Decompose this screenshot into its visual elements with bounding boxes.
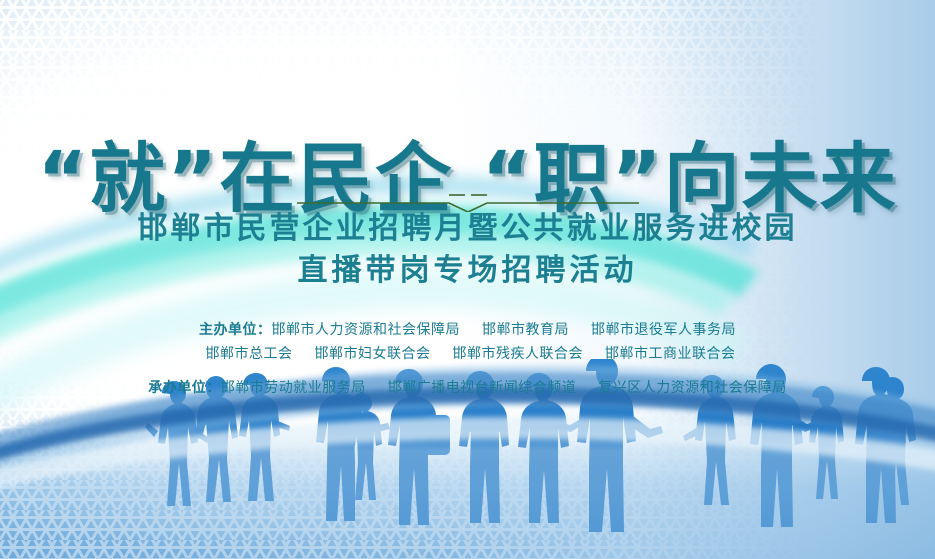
subtitle-line-2: 直播带岗专场招聘活动 bbox=[0, 250, 935, 292]
undertaker-label: 承办单位： bbox=[148, 380, 221, 396]
host-org-4: 邯郸市总工会 bbox=[206, 346, 293, 362]
undertaker-row-1: 承办单位：邯郸市劳动就业服务局邯郸广播电视台新闻综合频道复兴区人力资源和社会保障… bbox=[0, 376, 935, 400]
poster-content: “就”在民企 “职”向未来 邯郸市民营企业招聘月暨公共就业服务进校园 直播带岗专… bbox=[0, 0, 935, 559]
subtitle-line-1: 邯郸市民营企业招聘月暨公共就业服务进校园 bbox=[0, 208, 935, 250]
host-org-2: 邯郸市教育局 bbox=[482, 322, 569, 338]
undertaker-org-1: 邯郸市劳动就业服务局 bbox=[221, 380, 366, 396]
host-org-1: 邯郸市人力资源和社会保障局 bbox=[272, 322, 461, 338]
subtitle: 邯郸市民营企业招聘月暨公共就业服务进校园 直播带岗专场招聘活动 bbox=[0, 208, 935, 292]
host-row-1: 主办单位：邯郸市人力资源和社会保障局邯郸市教育局邯郸市退役军人事务局 bbox=[0, 318, 935, 342]
host-org-7: 邯郸市工商业联合会 bbox=[605, 346, 736, 362]
organizer-spacer bbox=[0, 366, 935, 376]
undertaker-org-2: 邯郸广播电视台新闻综合频道 bbox=[388, 380, 577, 396]
host-org-5: 邯郸市妇女联合会 bbox=[315, 346, 431, 362]
host-row-2: 邯郸市总工会邯郸市妇女联合会邯郸市残疾人联合会邯郸市工商业联合会 bbox=[6, 342, 935, 366]
poster-canvas: “就”在民企 “职”向未来 邯郸市民营企业招聘月暨公共就业服务进校园 直播带岗专… bbox=[0, 0, 935, 559]
host-org-3: 邯郸市退役军人事务局 bbox=[591, 322, 736, 338]
host-org-6: 邯郸市残疾人联合会 bbox=[453, 346, 584, 362]
host-label: 主办单位： bbox=[199, 322, 272, 338]
undertaker-org-3: 复兴区人力资源和社会保障局 bbox=[598, 380, 787, 396]
organizer-block: 主办单位：邯郸市人力资源和社会保障局邯郸市教育局邯郸市退役军人事务局 邯郸市总工… bbox=[0, 318, 935, 400]
